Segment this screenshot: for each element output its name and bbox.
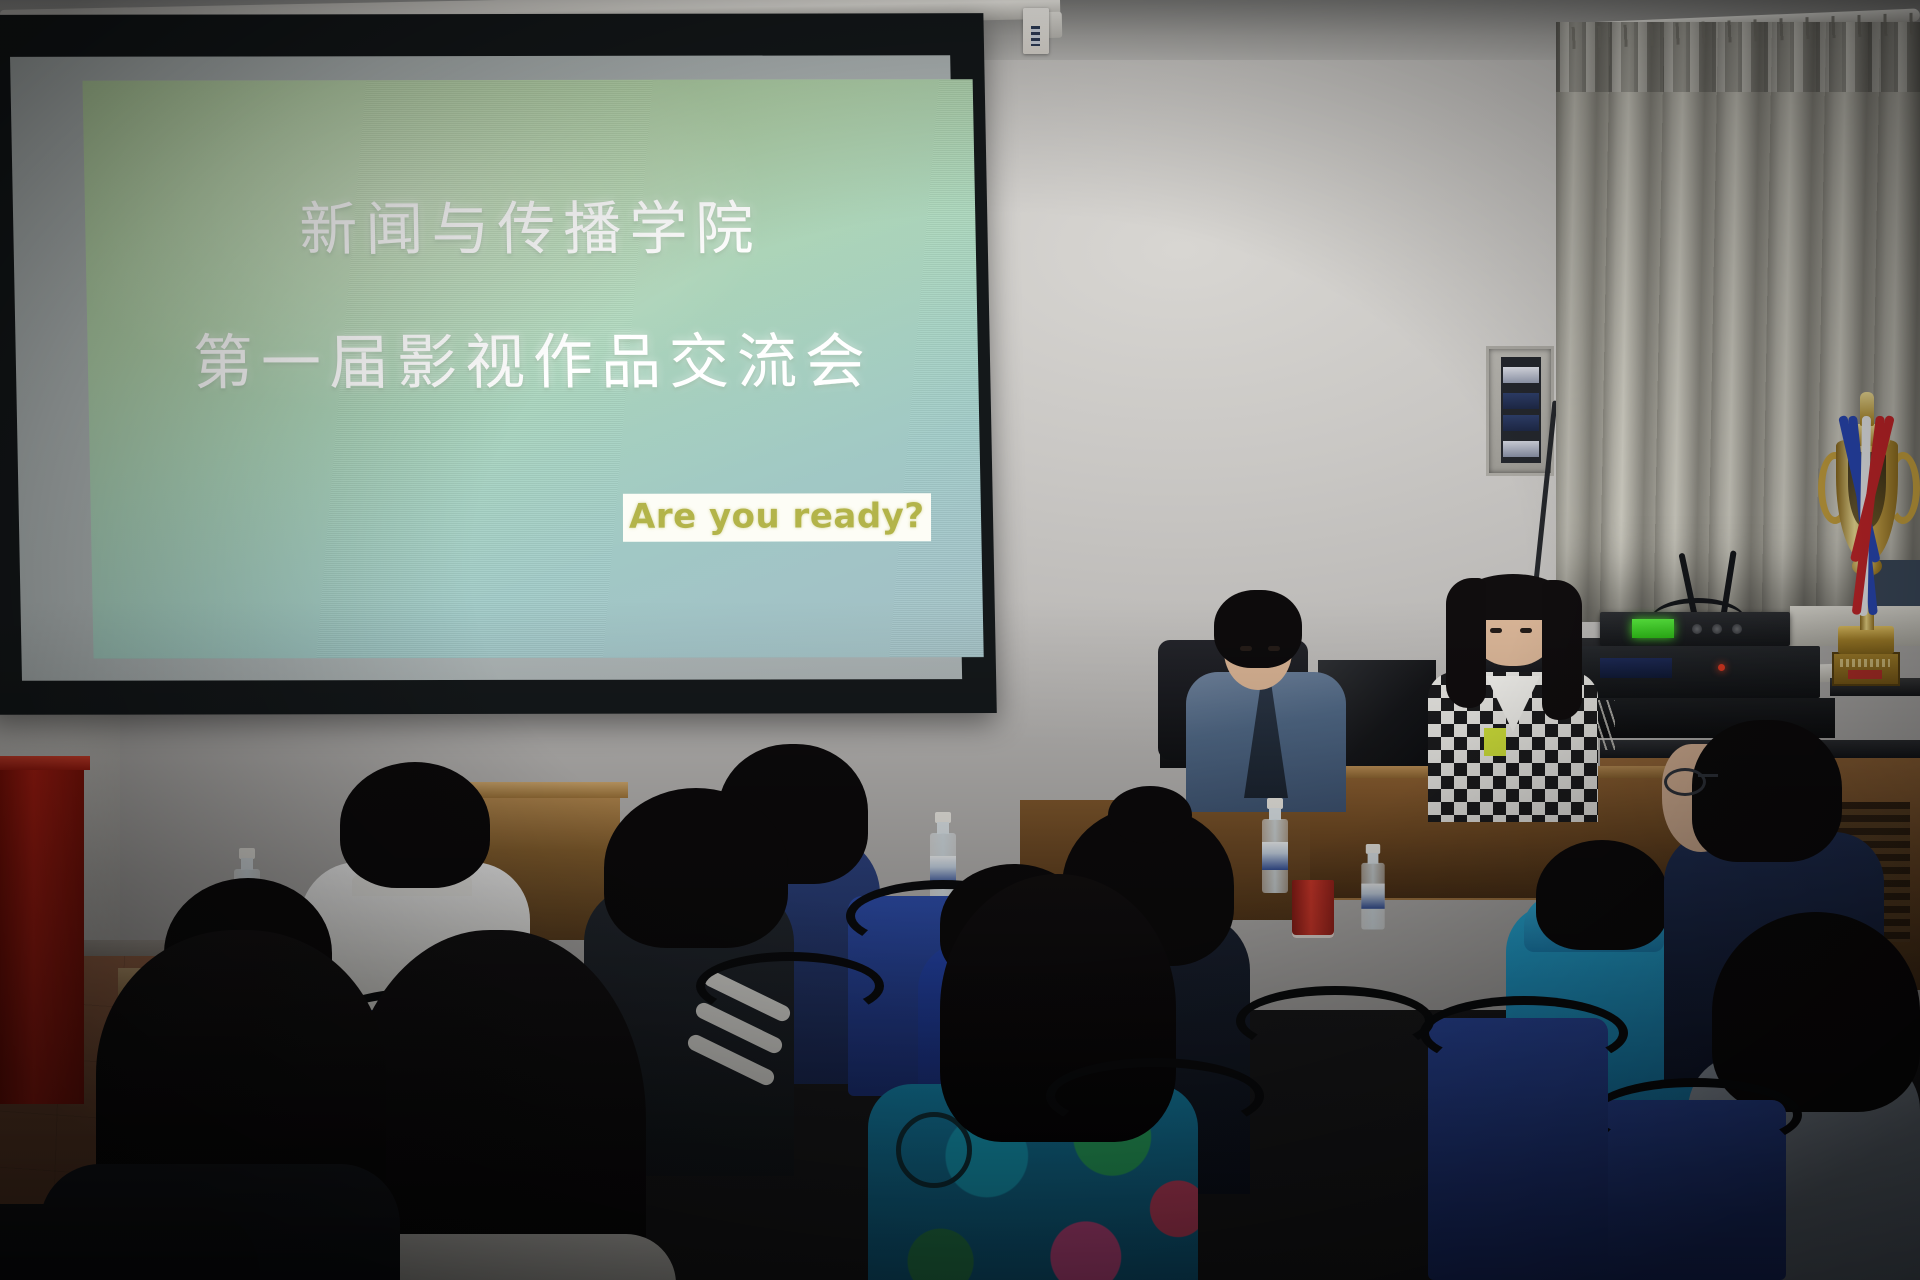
receiver-knob-1[interactable] xyxy=(1692,624,1702,634)
wireless-mic-receiver[interactable] xyxy=(1600,612,1790,646)
chair-back-rail xyxy=(696,952,884,1020)
presenter-female-hair-right xyxy=(1542,580,1582,720)
amplifier-display xyxy=(1600,658,1672,678)
switch-rocker-icon xyxy=(1031,26,1040,46)
conference-room-photo: 新闻与传播学院 第一届影视作品交流会 Are you ready? xyxy=(0,0,1920,1280)
chair-back-rail xyxy=(1588,1078,1802,1152)
trophy-name-plaque xyxy=(1832,652,1900,686)
bottle-label xyxy=(1361,884,1384,909)
breaker-rows xyxy=(1501,357,1541,463)
breaker-row-4 xyxy=(1503,441,1539,457)
presenter-male-eye-left xyxy=(1240,646,1252,651)
receiver-knob-3[interactable] xyxy=(1732,624,1742,634)
chair-back-rail xyxy=(1420,996,1628,1070)
bowl-cut-hair xyxy=(1692,720,1842,862)
plaque-red-label xyxy=(1848,670,1882,679)
glasses-temple xyxy=(1698,774,1718,777)
wall-switch-plate[interactable] xyxy=(1023,8,1049,54)
slide-title-line-1: 新闻与传播学院 xyxy=(85,197,976,261)
chair-back-rail xyxy=(1046,1058,1264,1134)
chair-back-rail xyxy=(1236,986,1434,1056)
projected-slide: 新闻与传播学院 第一届影视作品交流会 Are you ready? xyxy=(82,79,983,658)
dark-shoulder xyxy=(0,1204,260,1280)
glasses-icon xyxy=(1664,768,1706,796)
slide-title-block: 新闻与传播学院 第一届影视作品交流会 xyxy=(85,197,979,396)
screen-matte: 新闻与传播学院 第一届影视作品交流会 Are you ready? xyxy=(10,55,962,681)
presenter-male-eye-right xyxy=(1268,646,1280,651)
green-tag xyxy=(1484,728,1506,756)
bottle-label xyxy=(1262,842,1288,870)
electrical-breaker-panel[interactable] xyxy=(1486,346,1554,476)
breaker-row-3 xyxy=(1503,415,1539,431)
projection-screen: 新闻与传播学院 第一届影视作品交流会 Are you ready? xyxy=(0,13,997,715)
red-cabinet-top xyxy=(0,756,90,770)
red-cup[interactable] xyxy=(1292,880,1334,938)
presenter-male-hair xyxy=(1214,590,1302,668)
presenter-female-eye-left xyxy=(1490,628,1502,633)
red-floor-cabinet[interactable] xyxy=(0,764,84,1104)
breaker-row-1 xyxy=(1503,367,1539,383)
slide-title-line-2: 第一届影视作品交流会 xyxy=(87,330,978,396)
receiver-knob-2[interactable] xyxy=(1712,624,1722,634)
hair-bun xyxy=(1108,786,1192,844)
hoodie-wearer-hair xyxy=(604,788,788,948)
short-black-hair xyxy=(340,762,490,888)
green-lcd-display xyxy=(1632,619,1674,638)
short-hair xyxy=(1536,840,1668,950)
presenter-female-hair-left xyxy=(1446,578,1486,708)
slide-cta-highlight: Are you ready? xyxy=(623,493,931,542)
power-led-icon xyxy=(1718,664,1725,671)
trophy-base xyxy=(1838,626,1894,654)
presenter-female-eye-right xyxy=(1520,628,1532,633)
slide-cta-text: Are you ready? xyxy=(629,496,925,537)
breaker-row-2 xyxy=(1503,393,1539,409)
plaque-engraving xyxy=(1840,659,1890,667)
audio-amplifier[interactable] xyxy=(1570,646,1820,698)
